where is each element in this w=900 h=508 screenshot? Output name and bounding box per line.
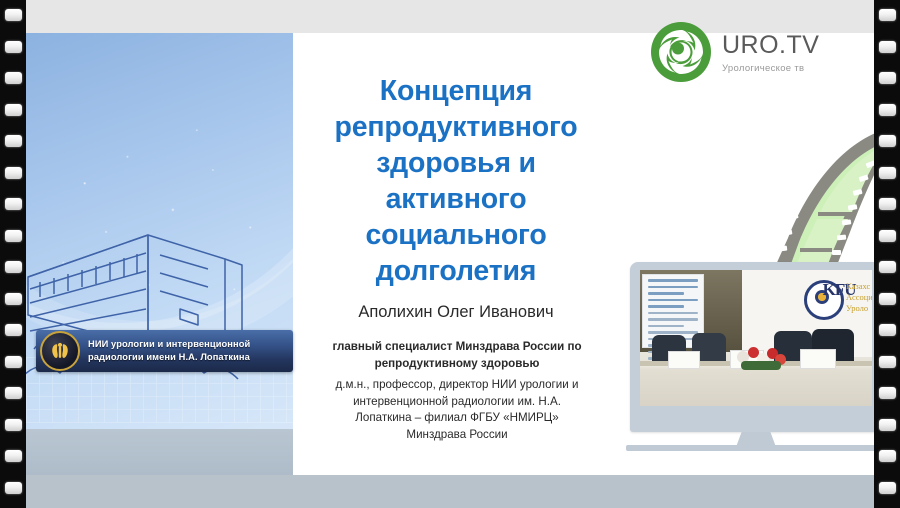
association-text: Казахс Ассоци Уроло (846, 281, 872, 314)
green-filmstrip-graphic-icon (700, 120, 890, 280)
photo-banner-top-text (807, 272, 808, 277)
slide-affiliation-line-4: Минздрава России (309, 427, 605, 444)
slide-affiliation-line-2: интервенционной радиологии им. Н.А. (309, 394, 605, 411)
slide-title-line-2: репродуктивного (305, 109, 607, 145)
sprocket-hole-icon (879, 41, 896, 53)
sprocket-hole-icon (879, 9, 896, 21)
sprocket-hole-icon (5, 72, 22, 84)
photo-nameplate (800, 349, 836, 369)
sprocket-hole-icon (5, 387, 22, 399)
sprocket-hole-icon (5, 324, 22, 336)
institute-badge-line2: радиологии имени Н.А. Лопаткина (88, 351, 250, 364)
sprocket-hole-icon (5, 9, 22, 21)
sprocket-hole-icon (5, 198, 22, 210)
sprocket-hole-icon (879, 167, 896, 179)
sprocket-hole-icon (879, 261, 896, 273)
slide-affiliation-line-3: Лопаткина – филиал ФГБУ «НМИРЦ» (309, 410, 605, 427)
uro-tv-tagline: Урологическое тв (722, 63, 819, 74)
institute-badge-line1: НИИ урологии и интервенционной (88, 338, 250, 351)
sprocket-hole-icon (879, 230, 896, 242)
slide-title-line-1: Концепция (305, 73, 607, 109)
monitor-stand-base (626, 445, 886, 451)
sprocket-hole-icon (5, 261, 22, 273)
sprocket-hole-icon (5, 167, 22, 179)
sprocket-hole-icon (879, 72, 896, 84)
sprocket-hole-icon (879, 450, 896, 462)
presentation-slide[interactable]: НИИ урологии и интервенционной радиологи… (26, 33, 621, 475)
uro-tv-wordmark: URO.TV Урологическое тв (722, 31, 819, 74)
sprocket-hole-icon (5, 41, 22, 53)
slide-affiliation-line-1: д.м.н., профессор, директор НИИ урологии… (309, 377, 605, 394)
slide-title-line-4: социального (305, 217, 607, 253)
sprocket-hole-icon (879, 387, 896, 399)
institute-badge: НИИ урологии и интервенционной радиологи… (36, 330, 293, 372)
conference-photo-thumbnail[interactable]: KFU Казахс Ассоци Уроло (640, 270, 872, 406)
letterbox-bottom (26, 475, 874, 508)
video-player-stage: НИИ урологии и интервенционной радиологи… (0, 0, 900, 508)
photo-nameplate (668, 351, 700, 369)
sprocket-hole-icon (5, 482, 22, 494)
sprocket-hole-icon (879, 324, 896, 336)
slide-title-line-5: долголетия (305, 253, 607, 289)
sprocket-hole-icon (879, 419, 896, 431)
slide-role: главный специалист Минздрава России по р… (313, 339, 601, 372)
sprocket-hole-icon (879, 104, 896, 116)
sprocket-hole-icon (5, 104, 22, 116)
monitor-icon[interactable]: KFU Казахс Ассоци Уроло (630, 262, 882, 447)
sprocket-hole-icon (879, 198, 896, 210)
filmstrip-right (874, 0, 900, 508)
sprocket-hole-icon (5, 419, 22, 431)
association-line-1: Казахс (846, 281, 872, 292)
institute-building-line-art-icon (26, 229, 293, 419)
slide-text-area: Концепция репродуктивного здоровья и акт… (293, 33, 621, 475)
uro-tv-name: URO.TV (722, 33, 819, 58)
slide-author: Аполихин Олег Иванович (305, 301, 607, 323)
photo-banner-bottom-text (810, 319, 811, 324)
photo-flowers (733, 345, 789, 371)
association-line-2: Ассоци (846, 292, 872, 303)
sprocket-hole-icon (5, 356, 22, 368)
sprocket-hole-icon (879, 356, 896, 368)
uro-tv-aperture-logo-icon (650, 21, 712, 83)
slide-role-line-1: главный специалист Минздрава России по (313, 339, 601, 356)
sprocket-hole-icon (879, 482, 896, 494)
slide-bottom-bar (26, 429, 293, 475)
slide-affiliation: д.м.н., профессор, директор НИИ урологии… (309, 377, 605, 443)
sprocket-hole-icon (5, 293, 22, 305)
slide-decorative-panel (26, 33, 293, 475)
slide-role-line-2: репродуктивному здоровью (313, 356, 601, 373)
sprocket-hole-icon (879, 135, 896, 147)
kidney-emblem-icon (40, 331, 80, 371)
sprocket-hole-icon (5, 450, 22, 462)
slide-title: Концепция репродуктивного здоровья и акт… (305, 73, 607, 289)
slide-title-line-3: здоровья и активного (305, 145, 607, 217)
sprocket-hole-icon (5, 230, 22, 242)
filmstrip-left (0, 0, 26, 508)
uro-tv-branding[interactable]: URO.TV Урологическое тв (650, 16, 880, 88)
association-line-3: Уроло (846, 303, 872, 314)
institute-badge-text: НИИ урологии и интервенционной радиологи… (88, 338, 250, 364)
sprocket-hole-icon (5, 135, 22, 147)
sprocket-hole-icon (879, 293, 896, 305)
